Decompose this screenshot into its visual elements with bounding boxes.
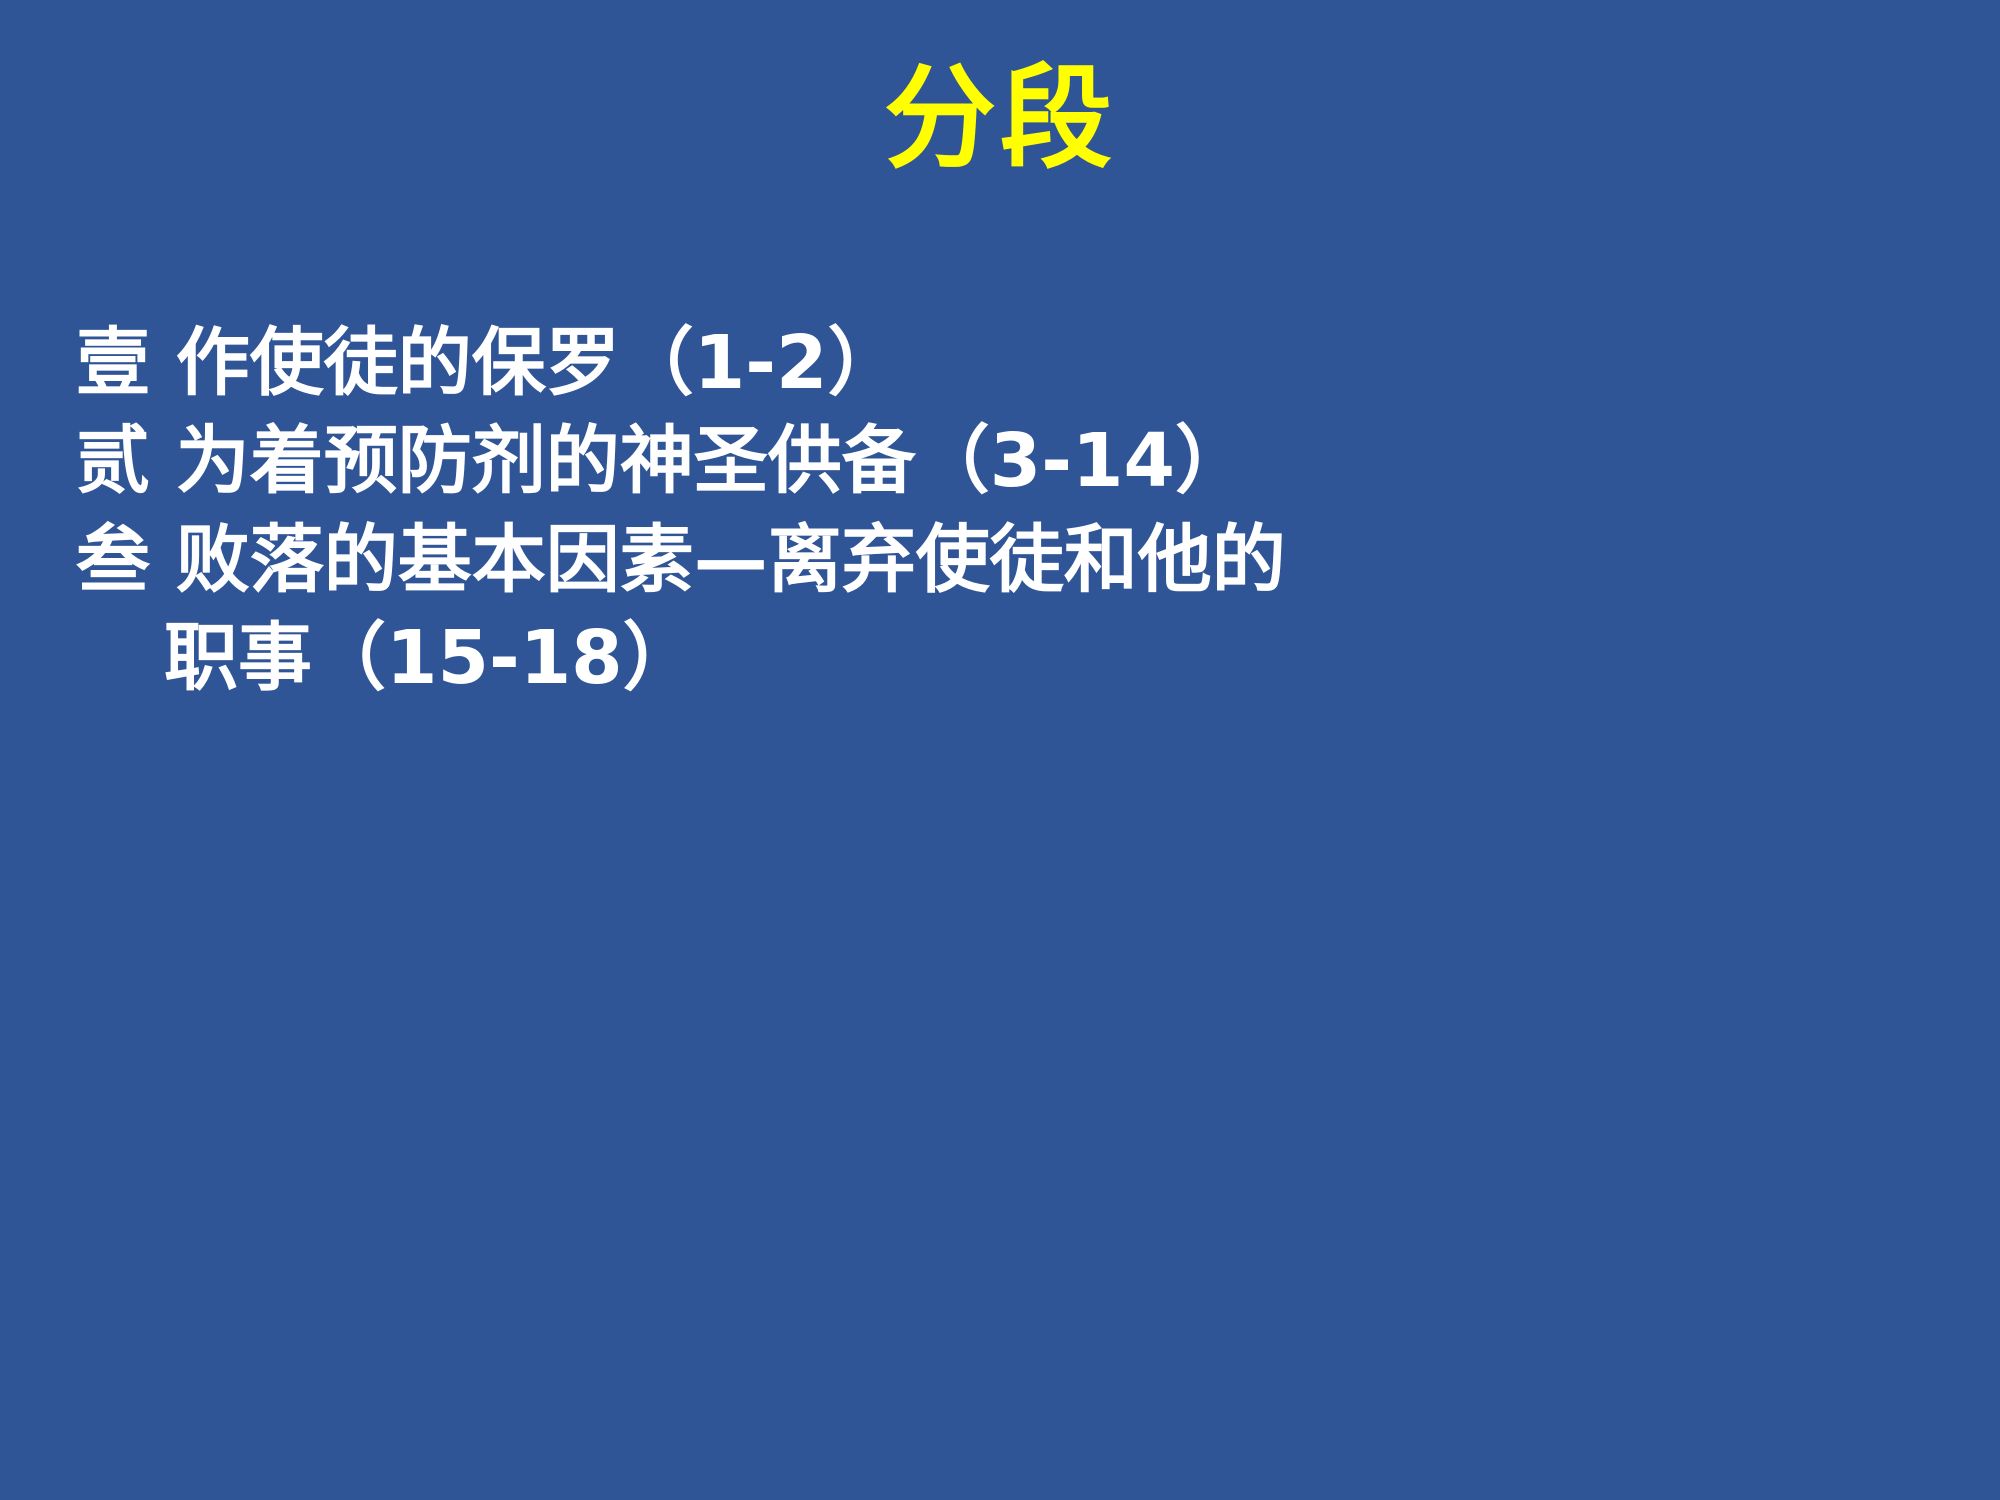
outline-item-1: 壹 作使徒的保罗（1-2） <box>76 318 1896 408</box>
outline-item-2: 贰 为着预防剂的神圣供备（3-14） <box>76 416 1896 506</box>
outline-item-3: 叁 败落的基本因素—离弃使徒和他的 <box>76 515 1896 605</box>
outline-item-3-continuation: 职事（15-18） <box>76 613 1896 703</box>
outline-list: 壹 作使徒的保罗（1-2） 贰 为着预防剂的神圣供备（3-14） 叁 败落的基本… <box>76 318 1896 711</box>
presentation-slide: 分段 壹 作使徒的保罗（1-2） 贰 为着预防剂的神圣供备（3-14） 叁 败落… <box>0 0 2000 1500</box>
page-title: 分段 <box>0 58 2000 181</box>
